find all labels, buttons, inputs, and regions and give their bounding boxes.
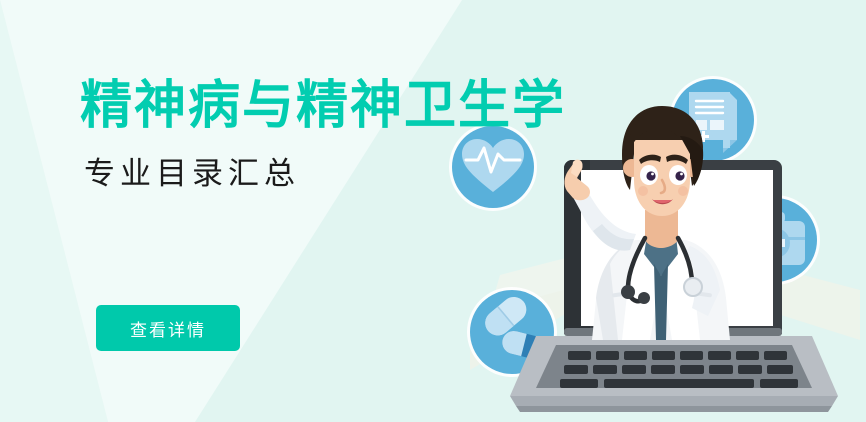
page-title: 精神病与精神卫生学	[80, 80, 620, 132]
keyboard-row-3	[560, 379, 798, 388]
page-subtitle: 专业目录汇总	[84, 158, 620, 189]
hero-text-block: 精神病与精神卫生学 专业目录汇总	[80, 80, 620, 189]
stethoscope-bell	[621, 285, 635, 299]
view-details-button[interactable]: 查看详情	[96, 305, 240, 351]
promo-banner: 精神病与精神卫生学 专业目录汇总 查看详情	[0, 0, 866, 422]
